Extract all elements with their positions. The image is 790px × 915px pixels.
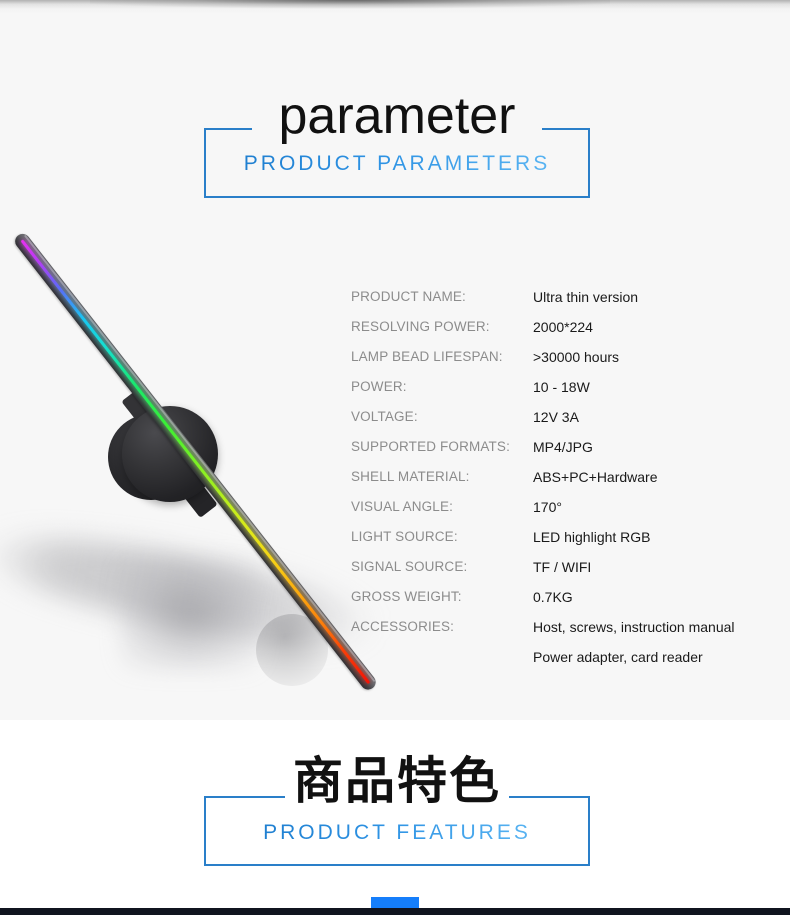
spec-label: VOLTAGE: — [351, 402, 533, 432]
features-title: 商品特色 — [293, 756, 501, 806]
specification-list: PRODUCT NAME: Ultra thin version RESOLVI… — [351, 282, 781, 672]
spec-value: TF / WIFI — [533, 552, 591, 582]
spec-value: >30000 hours — [533, 342, 619, 372]
spec-value-continuation: Power adapter, card reader — [533, 642, 781, 672]
features-heading: 商品特色 PRODUCT FEATURES — [204, 796, 590, 866]
spec-label: SUPPORTED FORMATS: — [351, 432, 533, 462]
spec-label: LIGHT SOURCE: — [351, 522, 533, 552]
parameters-heading: parameter PRODUCT PARAMETERS — [204, 128, 590, 198]
spec-value: Ultra thin version — [533, 282, 638, 312]
spec-row: POWER: 10 - 18W — [351, 372, 781, 402]
page-bottom-strip — [0, 908, 790, 915]
spec-value: 2000*224 — [533, 312, 593, 342]
spec-value: ABS+PC+Hardware — [533, 462, 658, 492]
spec-value: 0.7KG — [533, 582, 573, 612]
parameters-subtitle: PRODUCT PARAMETERS — [244, 152, 550, 176]
spec-label: POWER: — [351, 372, 533, 402]
spec-row: VISUAL ANGLE: 170° — [351, 492, 781, 522]
spec-row: PRODUCT NAME: Ultra thin version — [351, 282, 781, 312]
spec-value: 10 - 18W — [533, 372, 590, 402]
spec-row: LAMP BEAD LIFESPAN: >30000 hours — [351, 342, 781, 372]
features-subtitle: PRODUCT FEATURES — [263, 821, 531, 845]
spec-row: GROSS WEIGHT: 0.7KG — [351, 582, 781, 612]
spec-label: LAMP BEAD LIFESPAN: — [351, 342, 533, 372]
spec-label: SHELL MATERIAL: — [351, 462, 533, 492]
hub-shadow — [120, 560, 260, 670]
spec-label: VISUAL ANGLE: — [351, 492, 533, 522]
spec-row: SIGNAL SOURCE: TF / WIFI — [351, 552, 781, 582]
spec-value: LED highlight RGB — [533, 522, 651, 552]
spec-label: ACCESSORIES: — [351, 612, 533, 642]
spec-label: RESOLVING POWER: — [351, 312, 533, 342]
spec-value: Host, screws, instruction manual — [533, 612, 735, 642]
spec-row: LIGHT SOURCE: LED highlight RGB — [351, 522, 781, 552]
spec-row: SHELL MATERIAL: ABS+PC+Hardware — [351, 462, 781, 492]
spec-label: GROSS WEIGHT: — [351, 582, 533, 612]
spec-label: SIGNAL SOURCE: — [351, 552, 533, 582]
spec-value: 170° — [533, 492, 562, 522]
spec-row: VOLTAGE: 12V 3A — [351, 402, 781, 432]
spec-value: MP4/JPG — [533, 432, 593, 462]
spec-row: SUPPORTED FORMATS: MP4/JPG — [351, 432, 781, 462]
spec-row: RESOLVING POWER: 2000*224 — [351, 312, 781, 342]
spec-value: 12V 3A — [533, 402, 579, 432]
spec-row: ACCESSORIES: Host, screws, instruction m… — [351, 612, 781, 642]
parameters-section: parameter PRODUCT PARAMETERS PRODUCT NAM… — [0, 0, 790, 720]
parameters-title: parameter — [279, 90, 516, 142]
spec-label: PRODUCT NAME: — [351, 282, 533, 312]
